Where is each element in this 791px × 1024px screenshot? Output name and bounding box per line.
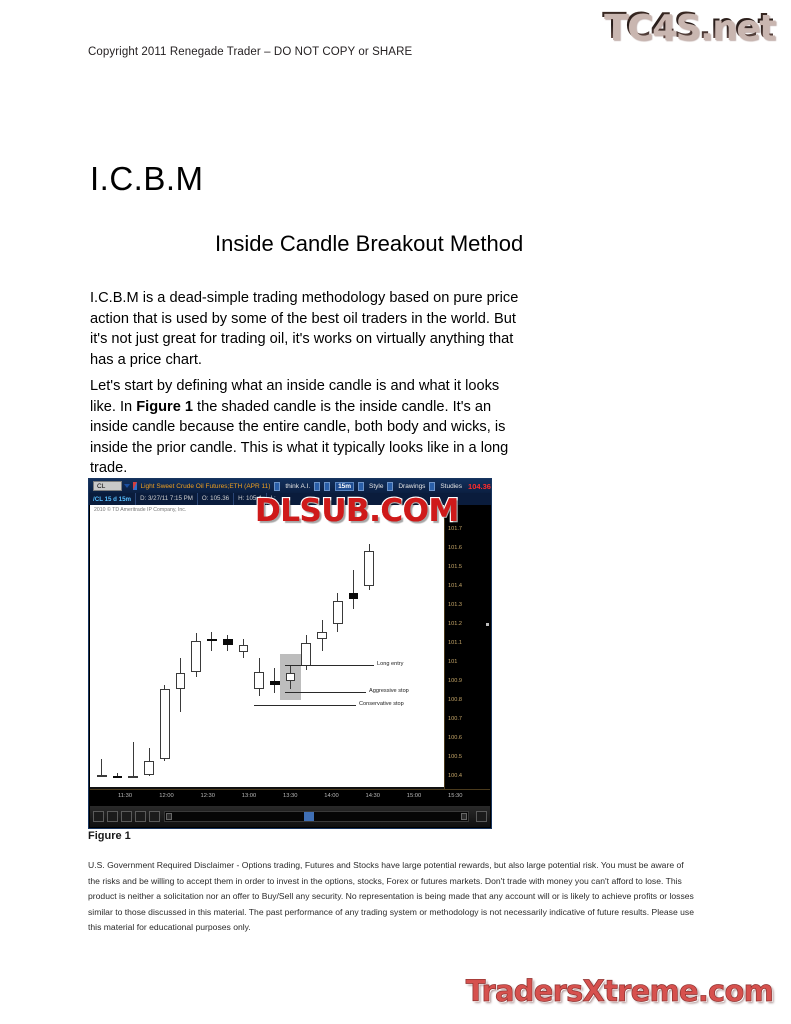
studies-button[interactable]: Studies xyxy=(440,483,462,490)
figure-reference: Figure 1 xyxy=(136,399,193,415)
time-axis-tick: 11:30 xyxy=(118,793,132,799)
chart-settings-icon[interactable] xyxy=(314,482,320,491)
price-axis[interactable]: 101.7101.6101.5101.4101.3101.2101.110110… xyxy=(444,505,490,790)
last-price-label: 104.36 xyxy=(468,482,491,491)
time-axis-tick: 13:00 xyxy=(242,793,257,799)
scroll-left-icon[interactable] xyxy=(166,813,172,820)
time-axis-tick: 13:30 xyxy=(283,793,298,799)
measure-icon[interactable] xyxy=(149,811,160,822)
price-axis-tick: 101.1 xyxy=(448,640,462,646)
price-axis-tick: 101.4 xyxy=(448,583,462,589)
price-axis-tick: 101.6 xyxy=(448,545,462,551)
price-axis-tick: 100.9 xyxy=(448,678,462,684)
tc4s-logo: TC4S.net xyxy=(602,6,773,47)
time-axis-tick: 15:30 xyxy=(448,793,463,799)
horizontal-scrollbar[interactable] xyxy=(164,811,469,822)
color-swatch-icon xyxy=(133,482,137,490)
chart-plot-area[interactable]: 2010 © TD Ameritrade IP Company, Inc. Lo… xyxy=(90,505,444,790)
annotation-leader-line xyxy=(254,705,356,706)
chart-bottom-toolbar[interactable] xyxy=(90,806,490,827)
tradersxtreme-logo: TradersXtreme.com xyxy=(466,974,773,1008)
price-axis-tick: 100.7 xyxy=(448,716,462,722)
intro-paragraph: I.C.B.M is a dead-simple trading methodo… xyxy=(90,288,520,370)
figure-caption: Figure 1 xyxy=(88,830,131,842)
style-icon[interactable] xyxy=(358,482,364,491)
copyright-notice: Copyright 2011 Renegade Trader – DO NOT … xyxy=(88,46,412,58)
price-axis-tick: 101.3 xyxy=(448,602,462,608)
thinkorswim-chart-window[interactable]: CL Light Sweet Crude Oil Futures;ETH (AP… xyxy=(88,478,492,829)
quote-symbol-label: /CL 15 d 15m xyxy=(89,496,135,503)
price-axis-tick: 101 xyxy=(448,659,457,665)
definition-paragraph: Let's start by defining what an inside c… xyxy=(90,376,520,479)
dlsub-watermark: DLSUB.COM xyxy=(255,493,459,529)
page-subtitle: Inside Candle Breakout Method xyxy=(215,231,523,257)
quote-date: D: 3/27/11 7:15 PM xyxy=(135,493,197,505)
instrument-name-label: Light Sweet Crude Oil Futures;ETH (APR 1… xyxy=(140,483,270,490)
grid-layout-icon[interactable] xyxy=(324,482,330,491)
scroll-right-icon[interactable] xyxy=(461,813,467,820)
time-axis-tick: 15:00 xyxy=(407,793,422,799)
time-axis: 11:3012:0012:3013:0013:3014:0014:3015:00… xyxy=(90,789,490,806)
drawings-button[interactable]: Drawings xyxy=(398,483,425,490)
time-axis-tick: 14:30 xyxy=(366,793,381,799)
price-axis-tick: 101.2 xyxy=(448,621,462,627)
expand-icon[interactable] xyxy=(476,811,487,822)
think-ai-button[interactable]: think A.I. xyxy=(285,483,310,490)
zoom-out-icon[interactable] xyxy=(121,811,132,822)
timeframe-button[interactable]: 15m xyxy=(335,482,354,491)
legal-disclaimer: U.S. Government Required Disclaimer - Op… xyxy=(88,858,694,936)
symbol-input[interactable]: CL xyxy=(93,481,122,491)
price-axis-tick: 100.5 xyxy=(448,754,462,760)
page-title: I.C.B.M xyxy=(90,160,204,198)
annotation-label: Aggressive stop xyxy=(369,688,409,694)
grid-icon[interactable] xyxy=(93,811,104,822)
zoom-in-icon[interactable] xyxy=(107,811,118,822)
annotation-leader-line xyxy=(285,665,374,666)
price-axis-tick: 100.6 xyxy=(448,735,462,741)
studies-icon[interactable] xyxy=(429,482,435,491)
time-axis-tick: 12:30 xyxy=(201,793,216,799)
price-axis-tick: 100.4 xyxy=(448,773,462,779)
time-axis-tick: 14:00 xyxy=(324,793,339,799)
quote-open: O: 105.36 xyxy=(197,493,233,505)
annotation-label: Long entry xyxy=(377,661,403,667)
pencil-icon[interactable] xyxy=(387,482,393,491)
price-axis-tick: 101.5 xyxy=(448,564,462,570)
figure-1-container: CL Light Sweet Crude Oil Futures;ETH (AP… xyxy=(88,478,492,829)
annotation-leader-line xyxy=(285,692,366,693)
chart-toolbar[interactable]: CL Light Sweet Crude Oil Futures;ETH (AP… xyxy=(89,479,491,493)
annotations-layer: Long entryAggressive stopConservative st… xyxy=(90,505,444,790)
style-button[interactable]: Style xyxy=(369,483,383,490)
time-axis-tick: 12:00 xyxy=(159,793,174,799)
price-axis-tick: 100.8 xyxy=(448,697,462,703)
globe-icon[interactable] xyxy=(274,482,280,491)
annotation-label: Conservative stop xyxy=(359,701,404,707)
axis-handle-icon[interactable] xyxy=(486,623,489,626)
scrollbar-thumb[interactable] xyxy=(304,812,314,821)
chevron-down-icon[interactable] xyxy=(124,484,130,488)
crosshair-icon[interactable] xyxy=(135,811,146,822)
